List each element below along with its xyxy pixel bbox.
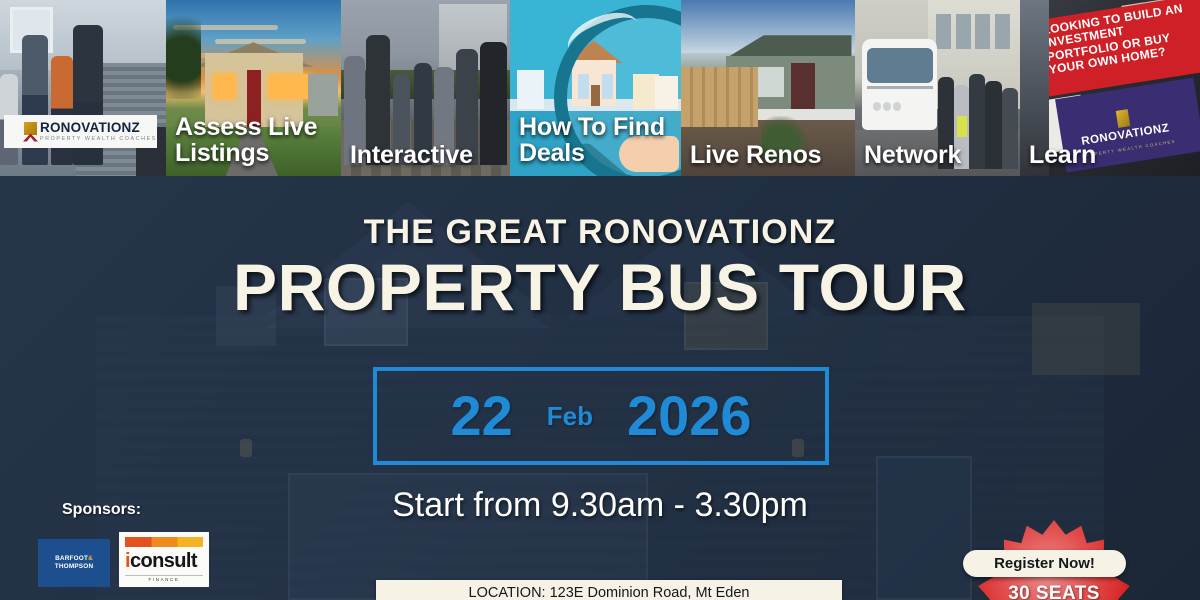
page-title: PROPERTY BUS TOUR [0,254,1200,320]
tile-caption: Assess Live Listings [175,115,341,166]
tile-caption: Live Renos [690,143,821,169]
ronovationz-logo: RONOVATIONZ PROPERTY WEALTH COACHES [4,115,157,148]
iconsult-name: consult [130,550,197,572]
iconsult-color-bar [125,537,203,547]
sponsor-bt-amp: & [88,555,93,562]
tile-caption: Interactive [350,143,473,169]
iconsult-sub: FINANCE [125,575,203,582]
photo-group-outside-house [0,0,166,176]
strip-tile-ronovationz[interactable]: RONOVATIONZ PROPERTY WEALTH COACHES [0,0,166,176]
date-month: Feb [547,403,593,429]
sponsors-label: Sponsors: [62,501,209,519]
event-location-bar: LOCATION: 123E Dominion Road, Mt Eden [376,580,842,600]
strip-tile-interactive[interactable]: Interactive [341,0,510,176]
strip-tile-live-renos[interactable]: Live Renos [681,0,855,176]
logo-tagline: PROPERTY WEALTH COACHES [40,137,157,142]
register-now-button[interactable]: Register Now! [963,550,1126,577]
seats-line-1: 30 SEATS [1008,583,1100,600]
hero-section: THE GREAT RONOVATIONZ PROPERTY BUS TOUR … [0,176,1200,600]
date-year: 2026 [627,388,752,444]
tile-caption: Network [864,143,961,169]
strip-tile-network[interactable]: Network [855,0,1020,176]
sponsor-bt-line2: THOMPSON [55,563,94,570]
sponsor-bt-line1: BARFOOT [55,555,88,562]
sponsor-logo-barfoot-thompson[interactable]: BARFOOT& THOMPSON [38,539,110,587]
ronovationz-house-icon [24,122,37,142]
strip-tile-assess-live-listings[interactable]: Assess Live Listings [166,0,341,176]
tile-caption: How To Find Deals [519,115,681,166]
strip-tile-learn[interactable]: LOOKING TO BUILD AN INVESTMENT PORTFOLIO… [1020,0,1200,176]
sponsors-block: Sponsors: BARFOOT& THOMPSON iconsult FIN… [38,501,209,587]
top-photo-strip: RONOVATIONZ PROPERTY WEALTH COACHES Asse… [0,0,1200,176]
sponsor-logo-iconsult[interactable]: iconsult FINANCE [119,532,209,587]
event-banner: RONOVATIONZ PROPERTY WEALTH COACHES Asse… [0,0,1200,600]
date-day: 22 [450,388,512,444]
event-kicker: THE GREAT RONOVATIONZ [0,213,1200,252]
logo-name: RONOVATIONZ [40,120,140,135]
tile-caption: Learn [1029,143,1096,169]
event-date-box: 22 Feb 2026 [373,367,829,465]
strip-tile-how-to-find-deals[interactable]: How To Find Deals [510,0,681,176]
